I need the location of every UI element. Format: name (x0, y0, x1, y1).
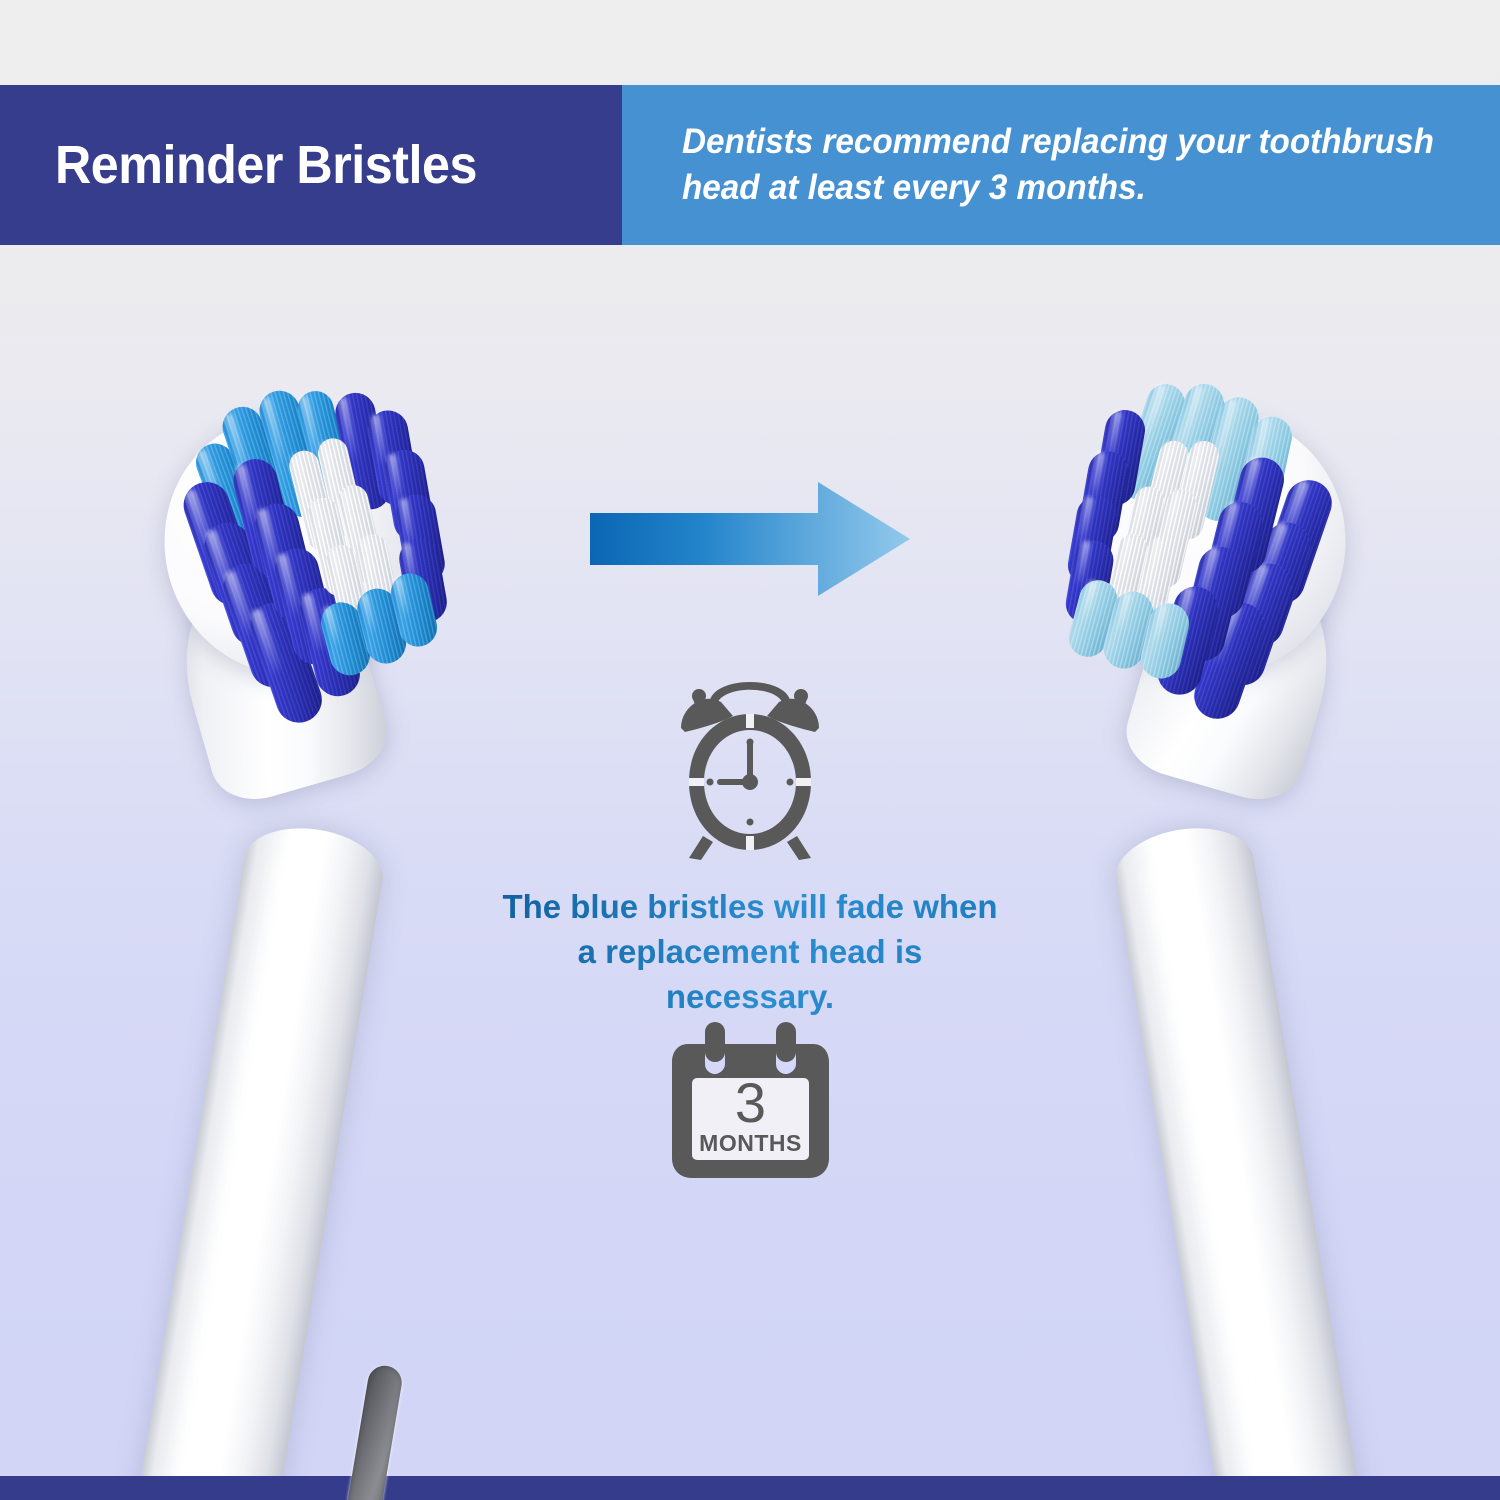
calendar-number: 3 (668, 1075, 833, 1131)
banner-title-block: Reminder Bristles (0, 85, 622, 245)
banner-subtitle-line-2: head at least every 3 months. (682, 165, 1440, 211)
banner-subtitle-line-1: Dentists recommend replacing your toothb… (682, 119, 1440, 165)
bristle-field-new (128, 362, 482, 708)
worn-toothbrush-head (940, 370, 1500, 1500)
page-title: Reminder Bristles (55, 138, 477, 192)
toothbrush-handle (106, 818, 389, 1500)
product-infographic: Reminder Bristles Dentists recommend rep… (0, 0, 1500, 1500)
calendar-icon: 3 MONTHS (668, 1020, 833, 1180)
fade-notice-line-1: The blue bristles will fade when (500, 885, 1000, 930)
fade-notice-line-2: a replacement head is necessary. (500, 930, 1000, 1020)
fade-notice-text: The blue bristles will fade when a repla… (500, 885, 1000, 1020)
alarm-clock-icon (655, 660, 845, 860)
right-arrow-icon (590, 480, 910, 598)
calendar-label: MONTHS (668, 1132, 833, 1155)
toothbrush-handle (1109, 818, 1392, 1500)
bristle-field-faded (1033, 362, 1387, 708)
banner-subtitle-block: Dentists recommend replacing your toothb… (622, 85, 1500, 245)
new-toothbrush-head (0, 370, 560, 1500)
bottom-accent-bar (0, 1476, 1500, 1500)
header-banner: Reminder Bristles Dentists recommend rep… (0, 85, 1500, 245)
